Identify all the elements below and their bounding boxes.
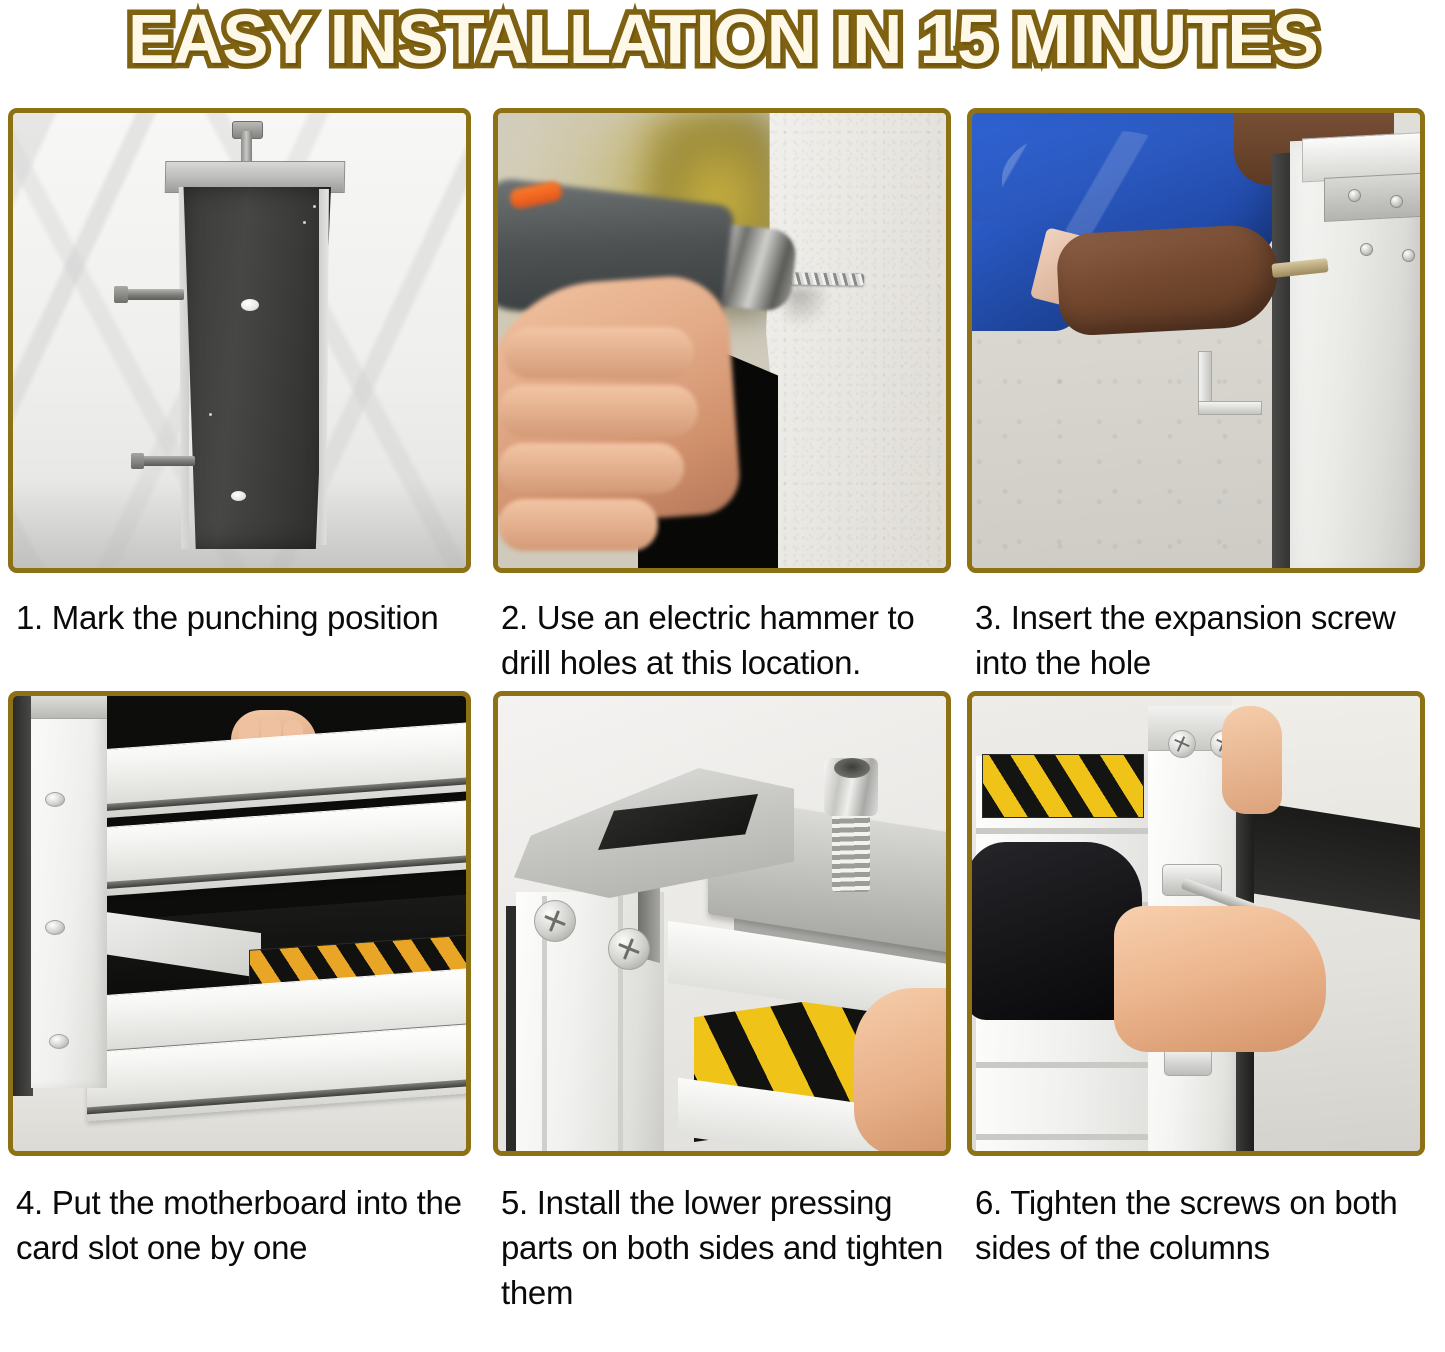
step-card-6: 6. Tighten the screws on both sides of t… xyxy=(953,691,1443,1315)
step-4-insert-boards-photo xyxy=(8,691,471,1156)
protruding-screw-lower-icon xyxy=(135,456,195,466)
marking-hole-lower-icon xyxy=(231,491,246,501)
step-2-illustration xyxy=(498,113,946,568)
step-card-5: 5. Install the lower pressing parts on b… xyxy=(479,691,967,1315)
phillips-screw-1-icon xyxy=(534,900,576,942)
step-3-illustration xyxy=(972,113,1420,568)
header-banner: EASY INSTALLATION IN 15 MINUTES xyxy=(0,0,1445,108)
step-5-caption: 5. Install the lower pressing parts on b… xyxy=(493,1156,967,1315)
column-bolt-2-icon xyxy=(45,920,65,935)
step-4-illustration xyxy=(13,696,466,1151)
hand-icon xyxy=(1114,906,1326,1052)
metal-column-post-icon xyxy=(179,187,331,549)
step-2-caption: 2. Use an electric hammer to drill holes… xyxy=(493,573,967,691)
wall-surface-icon xyxy=(766,113,946,568)
column-bolt-1-icon xyxy=(45,792,65,807)
step-1-illustration xyxy=(13,113,466,568)
step-6-tighten-screws-photo xyxy=(967,691,1425,1156)
step-4-caption: 4. Put the motherboard into the card slo… xyxy=(8,1156,479,1306)
marking-hole-upper-icon xyxy=(241,299,259,311)
step-3-insert-expansion-screw-photo xyxy=(967,108,1425,573)
column-screw-1-icon xyxy=(1168,730,1196,758)
step-2-drill-holes-photo xyxy=(493,108,951,573)
step-1-mark-punching-position-photo xyxy=(8,108,471,573)
thumb-icon xyxy=(1222,706,1282,814)
step-card-3: 3. Insert the expansion screw into the h… xyxy=(953,108,1443,691)
step-6-caption: 6. Tighten the screws on both sides of t… xyxy=(967,1156,1443,1306)
hand-icon xyxy=(854,988,946,1151)
step-card-1: 1. Mark the punching position xyxy=(8,108,479,691)
step-card-2: 2. Use an electric hammer to drill holes… xyxy=(479,108,967,691)
phillips-screw-2-icon xyxy=(608,928,650,970)
base-plate-icon xyxy=(1324,172,1420,222)
installation-steps-grid: 1. Mark the punching position xyxy=(0,108,1445,1315)
step-6-illustration xyxy=(972,696,1420,1151)
step-5-install-pressing-parts-photo xyxy=(493,691,951,1156)
hazard-stripe-icon xyxy=(982,754,1144,818)
drill-bit-icon xyxy=(786,272,864,285)
forearm-icon xyxy=(1055,223,1280,336)
column-card-slot-icon xyxy=(31,696,107,1088)
column-bolt-3-icon xyxy=(49,1034,69,1049)
step-5-illustration xyxy=(498,696,946,1151)
step-1-caption: 1. Mark the punching position xyxy=(8,573,479,691)
step-card-4: 4. Put the motherboard into the card slo… xyxy=(8,691,479,1315)
page-title: EASY INSTALLATION IN 15 MINUTES xyxy=(128,0,1318,76)
hex-bolt-thread-icon xyxy=(832,806,870,892)
lower-screw-fitting-icon xyxy=(1164,1048,1212,1076)
step-3-caption: 3. Insert the expansion screw into the h… xyxy=(967,573,1443,691)
